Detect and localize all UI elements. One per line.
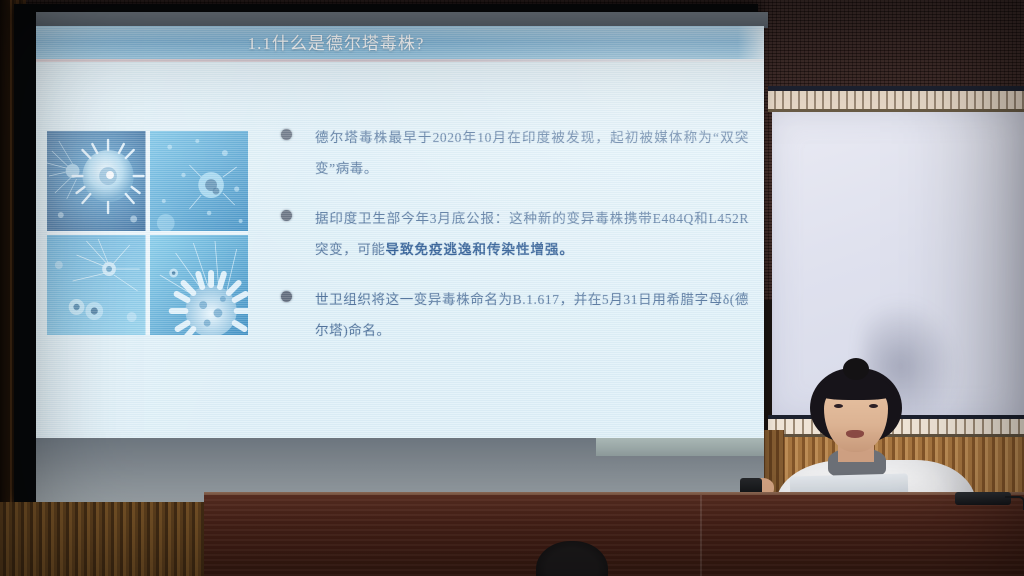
- virus-image-grid: [47, 131, 248, 335]
- bullet-dot-icon: [281, 210, 292, 221]
- virus-image-bottom-right: [150, 235, 249, 335]
- presentation-slide: 1.1什么是德尔塔毒株?: [36, 26, 764, 438]
- striped-trim-band-upper: [768, 86, 1024, 112]
- desk-panel-seam: [700, 495, 702, 576]
- title-underline: [36, 59, 764, 62]
- slide-bullet-list: 德尔塔毒株最早于2020年10月在印度被发现，起初被媒体称为“双突变”病毒。 据…: [281, 122, 749, 365]
- eye-left: [834, 404, 843, 408]
- wall-edge-shadow: [0, 0, 10, 576]
- lecture-scene: 1.1什么是德尔塔毒株?: [0, 0, 1024, 576]
- desk-wood-grain: [204, 499, 1024, 576]
- bullet-dot-icon: [281, 291, 292, 302]
- virus-image-bottom-left: [47, 235, 146, 335]
- bullet-text-3: 世卫组织将这一变异毒株命名为B.1.617，并在5月31日用希腊字母δ(德尔塔)…: [281, 284, 749, 346]
- glasses-temple-arm: [1005, 496, 1024, 510]
- bullet-text-2-highlight: 导致免疫逃逸和传染性增强。: [386, 242, 575, 257]
- projection-screen-frame: 1.1什么是德尔塔毒株?: [14, 4, 758, 502]
- bullet-item-3: 世卫组织将这一变异毒株命名为B.1.617，并在5月31日用希腊字母δ(德尔塔)…: [281, 284, 749, 346]
- banner-taper: [738, 26, 764, 59]
- slide-title: 1.1什么是德尔塔毒株?: [36, 29, 636, 54]
- glasses-on-desk: [955, 492, 1011, 505]
- bullet-item-1: 德尔塔毒株最早于2020年10月在印度被发现，起初被媒体称为“双突变”病毒。: [281, 122, 749, 184]
- mouth: [846, 430, 864, 438]
- hair-bun: [843, 358, 869, 380]
- bullet-text-1: 德尔塔毒株最早于2020年10月在印度被发现，起初被媒体称为“双突变”病毒。: [281, 122, 749, 184]
- bullet-text-2: 据印度卫生部今年3月底公报：这种新的变异毒株携带E484Q和L452R突变，可能…: [281, 203, 749, 265]
- bullet-dot-icon: [281, 129, 292, 140]
- wood-panel-lower-left: [0, 502, 210, 576]
- virus-image-top-right: [150, 131, 249, 231]
- virus-image-top-left: [47, 131, 146, 231]
- bullet-item-2: 据印度卫生部今年3月底公报：这种新的变异毒株携带E484Q和L452R突变，可能…: [281, 203, 749, 265]
- eye-right: [869, 404, 878, 408]
